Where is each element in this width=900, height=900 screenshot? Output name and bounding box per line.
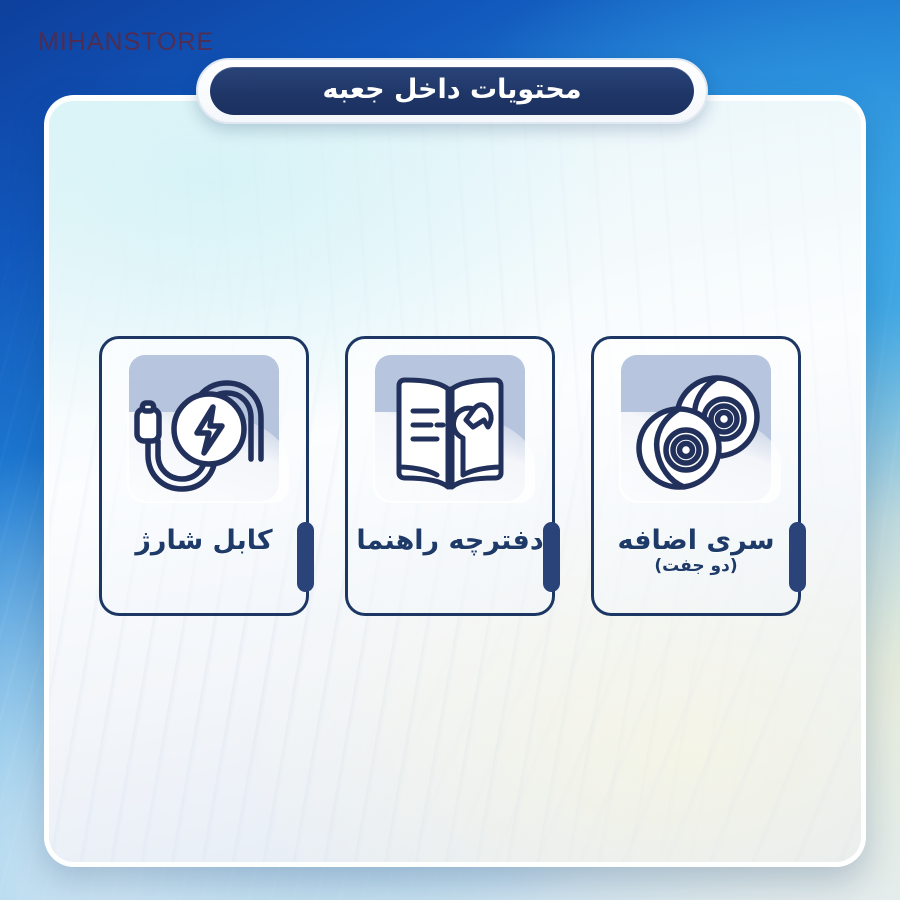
card-earbud-tips[interactable]: سری اضافه (دو جفت) bbox=[591, 336, 801, 616]
card-sublabel: (دو جفت) bbox=[654, 557, 737, 576]
card-label: سری اضافه bbox=[617, 527, 774, 555]
card-edge-tab bbox=[543, 522, 560, 592]
card-label: دفترچه راهنما bbox=[356, 527, 543, 555]
card-icon-area bbox=[355, 345, 545, 521]
page-title: محتویات داخل جعبه bbox=[322, 76, 581, 106]
title-badge-inner: محتویات داخل جعبه bbox=[210, 67, 694, 115]
card-icon-area bbox=[109, 345, 299, 521]
card-charging-cable[interactable]: کابل شارژ bbox=[99, 336, 309, 616]
title-badge: محتویات داخل جعبه bbox=[196, 58, 708, 124]
card-edge-tab bbox=[789, 522, 806, 592]
watermark-text: MIHANSTORE bbox=[38, 28, 214, 57]
infographic-stage: MIHANSTORE محتویات داخل جعبه bbox=[0, 0, 900, 900]
manual-book-wrench-icon bbox=[375, 363, 525, 503]
charging-cable-icon bbox=[129, 363, 279, 503]
card-user-manual[interactable]: دفترچه راهنما bbox=[345, 336, 555, 616]
card-label: کابل شارژ bbox=[135, 527, 272, 555]
card-edge-tab bbox=[297, 522, 314, 592]
earbud-tips-icon bbox=[621, 363, 771, 503]
card-icon-area bbox=[601, 345, 791, 521]
